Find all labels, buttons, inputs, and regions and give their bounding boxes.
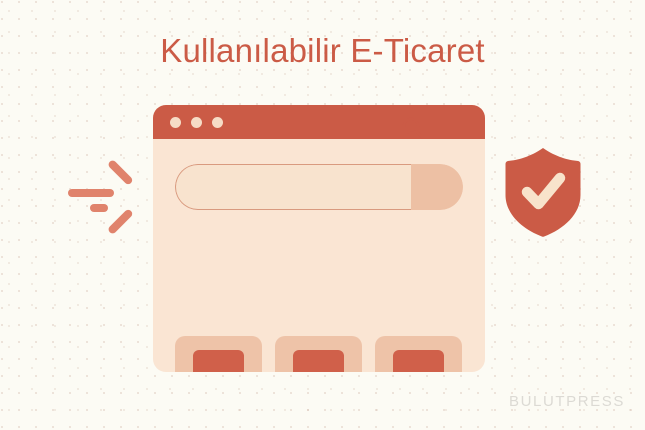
watermark-text: BULUTPRESS [509, 393, 625, 410]
product-image [293, 350, 344, 372]
window-dot-close-icon[interactable] [170, 117, 181, 128]
shield-check-icon [504, 146, 582, 238]
product-card[interactable]: $ [275, 336, 362, 372]
browser-window: $ $ $ [153, 105, 485, 372]
product-image [193, 350, 244, 372]
window-dot-maximize-icon[interactable] [212, 117, 223, 128]
product-card[interactable]: $ [175, 336, 262, 372]
search-icon [401, 116, 425, 140]
product-image [393, 350, 444, 372]
browser-titlebar [153, 105, 485, 139]
arrow-shaft [68, 189, 114, 197]
arrow-head-lower [107, 208, 134, 235]
illustration-canvas: Kullanılabilir E-Ticaret $ [0, 0, 645, 430]
page-title: Kullanılabilir E-Ticaret [0, 31, 645, 71]
search-input[interactable] [175, 164, 411, 210]
arrow-right-icon [68, 168, 134, 220]
search-button[interactable] [411, 164, 463, 210]
arrow-dash [90, 204, 108, 212]
product-card[interactable]: $ [375, 336, 462, 372]
window-dot-minimize-icon[interactable] [191, 117, 202, 128]
search-bar[interactable] [175, 164, 463, 210]
arrow-head-upper [107, 159, 134, 186]
